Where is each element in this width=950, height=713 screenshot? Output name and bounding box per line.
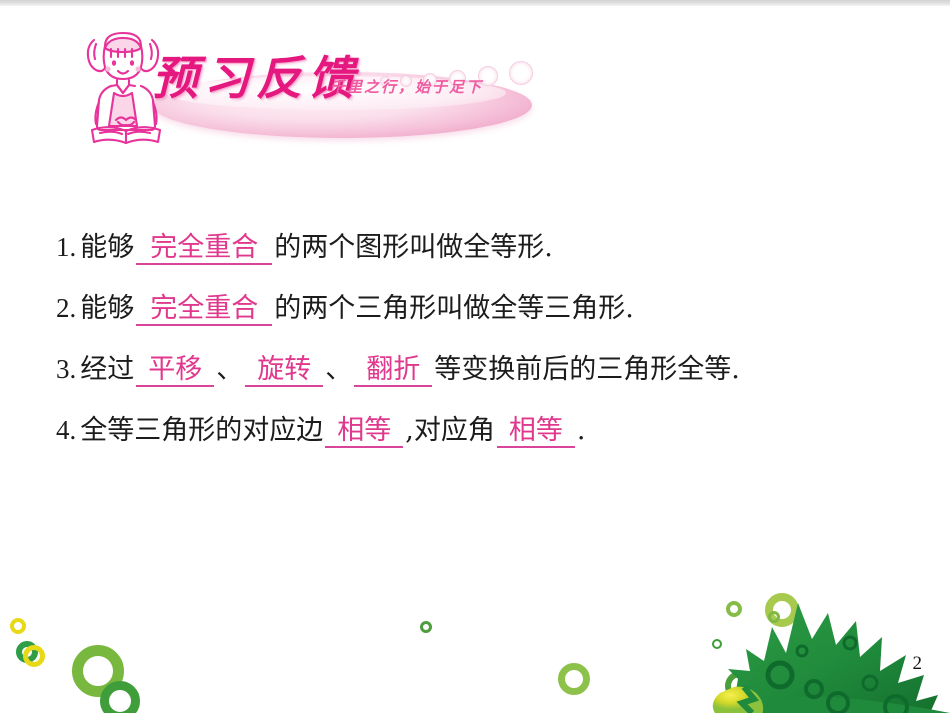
- decorative-ring: [768, 611, 780, 623]
- decorative-ring: [72, 645, 124, 697]
- decorative-ring: [23, 645, 45, 667]
- question-text: 、: [325, 356, 352, 383]
- banner-bubble: [509, 61, 533, 85]
- answer-blank[interactable]: 相等: [497, 417, 575, 448]
- decorative-ring: [100, 681, 140, 713]
- decorative-ring: [725, 671, 755, 701]
- question-text: 能够: [80, 295, 134, 322]
- question-list: 1.能够完全重合的两个图形叫做全等形.2.能够完全重合的两个三角形叫做全等三角形…: [56, 234, 946, 448]
- answer-blank[interactable]: 平移: [136, 356, 214, 387]
- question-number: 2.: [56, 295, 76, 322]
- decorative-ring: [726, 601, 742, 617]
- question-number: 1.: [56, 234, 76, 261]
- answer-blank[interactable]: 相等: [325, 417, 403, 448]
- question-text: 经过: [80, 356, 134, 383]
- maple-leaf-icon: [710, 583, 950, 713]
- answer-blank[interactable]: 旋转: [245, 356, 323, 387]
- question-line: 3.经过平移、旋转、翻折等变换前后的三角形全等.: [56, 356, 946, 387]
- question-line: 2.能够完全重合的两个三角形叫做全等三角形.: [56, 295, 946, 326]
- header-banner: 预习反馈 千里之行，始于足下: [80, 16, 550, 146]
- answer-blank[interactable]: 完全重合: [136, 234, 272, 265]
- question-text: .: [577, 417, 586, 444]
- decorative-ring: [16, 641, 38, 663]
- question-text: 全等三角形的对应边: [80, 417, 323, 444]
- question-line: 1.能够完全重合的两个图形叫做全等形.: [56, 234, 946, 265]
- question-text: 能够: [80, 234, 134, 261]
- decorative-ring: [712, 639, 722, 649]
- answer-blank[interactable]: 翻折: [354, 356, 432, 387]
- question-text: 、: [216, 356, 243, 383]
- banner-subtitle: 千里之行，始于足下: [330, 76, 483, 97]
- decorative-ring: [420, 621, 432, 633]
- slide-canvas: 预习反馈 千里之行，始于足下 1.能够完全重合的两个图形叫做全等形.2.能够完全…: [0, 0, 950, 713]
- decorative-ring: [558, 663, 590, 695]
- question-text: 的两个三角形叫做全等三角形.: [274, 295, 634, 322]
- page-number: 2: [913, 653, 923, 675]
- question-text: 的两个图形叫做全等形.: [274, 234, 553, 261]
- decorative-ring: [726, 693, 772, 713]
- question-line: 4.全等三角形的对应边相等,对应角相等.: [56, 417, 946, 448]
- answer-blank[interactable]: 完全重合: [136, 295, 272, 326]
- footer-decoration: 2: [0, 553, 950, 713]
- slide-top-edge: [0, 0, 950, 6]
- question-text: 等变换前后的三角形全等.: [434, 356, 740, 383]
- question-number: 4.: [56, 417, 76, 444]
- decorative-ring: [765, 593, 799, 627]
- banner-title: 预习反馈: [152, 42, 360, 108]
- decorative-ring: [10, 618, 26, 634]
- question-number: 3.: [56, 356, 76, 383]
- question-text: ,对应角: [405, 417, 495, 444]
